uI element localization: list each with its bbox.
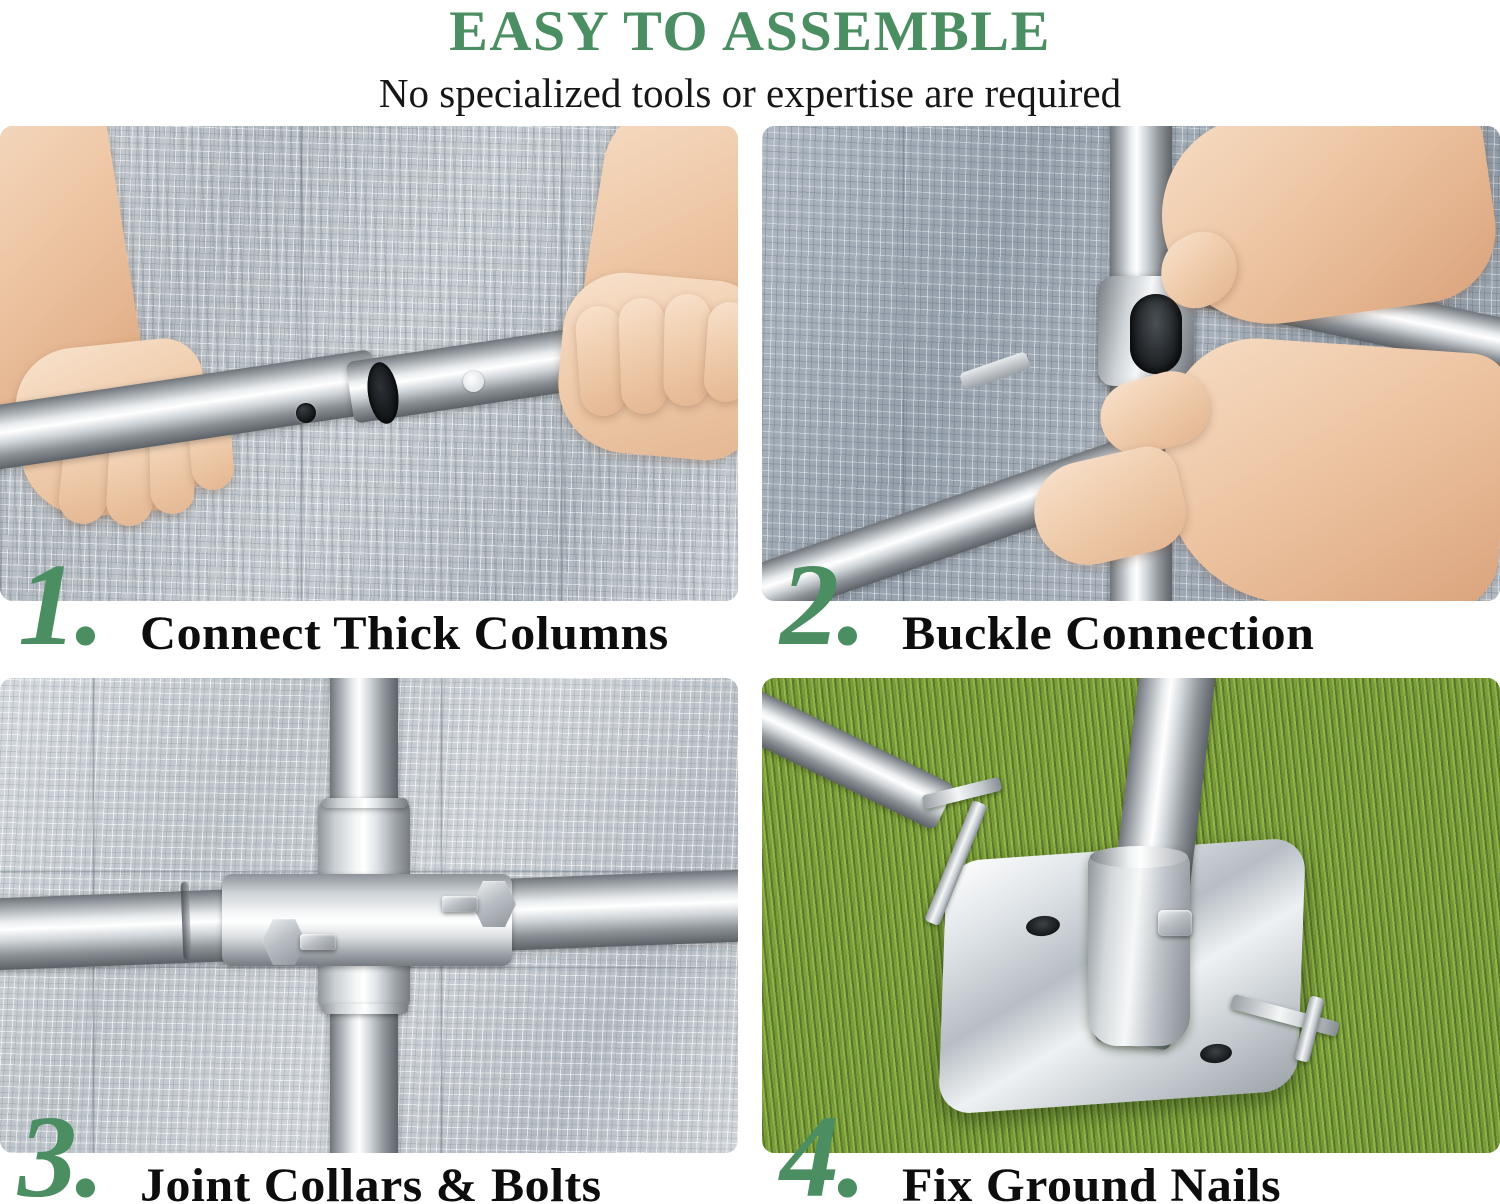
easy-to-assemble-infographic: EASY TO ASSEMBLE No specialized tools or… — [0, 0, 1500, 1204]
step-2-caption: 2. Buckle Connection — [762, 601, 1500, 671]
step-3-caption: 3. Joint Collars & Bolts — [0, 1153, 738, 1204]
socket-bolt-icon — [1158, 910, 1192, 936]
steps-grid: 1. Connect Thick Columns — [0, 126, 1500, 1204]
step-2-photo — [762, 126, 1500, 601]
step-1-caption: 1. Connect Thick Columns — [0, 601, 738, 671]
collar-ring-upper-icon — [322, 798, 408, 808]
step-2-label: Buckle Connection — [902, 605, 1314, 663]
bolt-shaft-left-icon — [300, 934, 336, 950]
lower-hand-icon — [1155, 332, 1500, 601]
step-card-3: 3. Joint Collars & Bolts — [0, 678, 738, 1204]
step-3-photo — [0, 678, 738, 1153]
step-4-photo — [762, 678, 1500, 1153]
bolt-shaft-right-icon — [442, 896, 478, 912]
step-3-label: Joint Collars & Bolts — [140, 1157, 602, 1204]
collar-ring-lower-icon — [322, 1004, 408, 1014]
header: EASY TO ASSEMBLE No specialized tools or… — [0, 0, 1500, 126]
step-1-label: Connect Thick Columns — [140, 605, 669, 663]
step-card-1: 1. Connect Thick Columns — [0, 126, 738, 671]
step-card-2: 2. Buckle Connection — [762, 126, 1500, 671]
pole-hole-light-icon — [463, 371, 484, 392]
step-4-label: Fix Ground Nails — [902, 1157, 1281, 1204]
page-subtitle: No specialized tools or expertise are re… — [0, 62, 1500, 119]
step-1-photo — [0, 126, 738, 601]
page-title: EASY TO ASSEMBLE — [0, 0, 1500, 62]
pole-socket-icon — [1088, 850, 1190, 1046]
socket-rim-icon — [1090, 846, 1188, 868]
step-card-4: 4. Fix Ground Nails — [762, 678, 1500, 1204]
step-4-caption: 4. Fix Ground Nails — [762, 1153, 1500, 1204]
pole-hole-dark-icon — [296, 403, 316, 423]
joint-collar-horizontal-icon — [222, 874, 512, 966]
buckle-socket-icon — [1130, 294, 1182, 374]
